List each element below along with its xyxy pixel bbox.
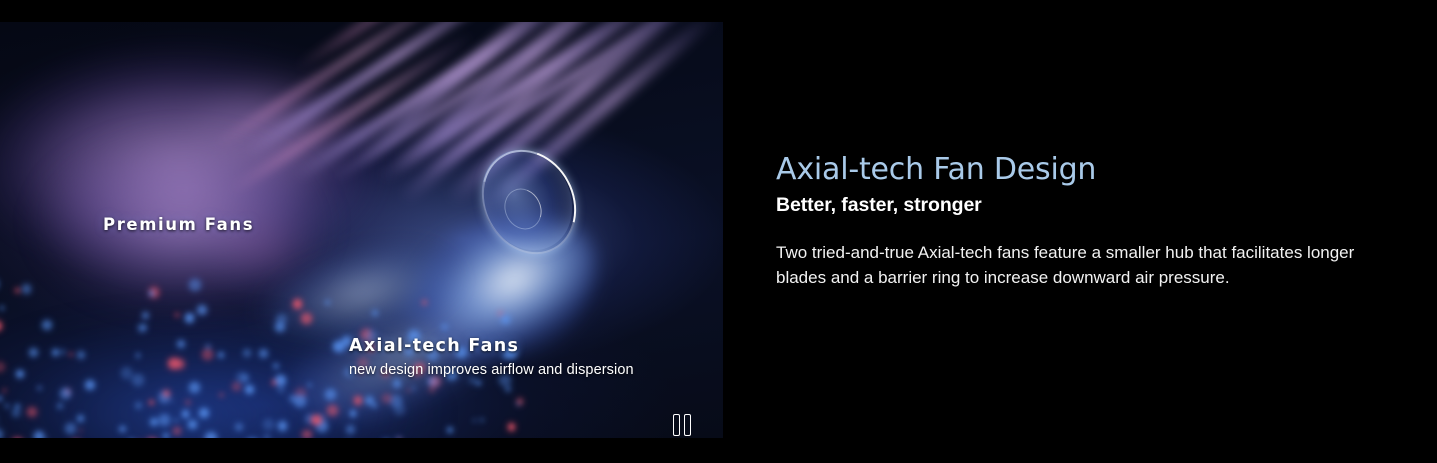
- particle-blue: [0, 306, 4, 310]
- particle-red: [175, 359, 185, 369]
- particle-red: [175, 313, 179, 317]
- particle-blue: [77, 415, 84, 422]
- particle-blue: [325, 300, 330, 305]
- particle-blue: [275, 375, 286, 386]
- particle-blue: [325, 389, 336, 400]
- particle-blue: [22, 284, 32, 294]
- particle-blue: [85, 380, 95, 390]
- particle-red: [185, 400, 191, 406]
- particle-blue: [52, 349, 59, 356]
- particle-red: [498, 311, 503, 316]
- particle-red: [15, 288, 20, 293]
- overlay-caption-axial-fans: new design improves airflow and dispersi…: [349, 362, 634, 378]
- particle-blue: [37, 386, 42, 391]
- particle-red: [202, 349, 214, 361]
- particle-red: [79, 429, 83, 433]
- particle-red: [311, 415, 321, 425]
- particle-blue: [60, 349, 66, 355]
- particle-red: [219, 393, 224, 398]
- particle-blue: [5, 404, 9, 408]
- particle-blue: [16, 370, 24, 378]
- particle-blue: [473, 419, 476, 422]
- feature-subtitle: Better, faster, stronger: [776, 194, 1416, 217]
- overlay-label-axial-fans: Axial-tech Fans: [349, 337, 634, 356]
- particle-red: [27, 407, 37, 417]
- particle-blue: [243, 349, 252, 358]
- particle-blue: [273, 363, 279, 369]
- particle-red: [429, 386, 436, 393]
- particle-blue: [395, 436, 402, 438]
- particle-blue: [60, 388, 72, 400]
- particle-blue: [185, 313, 195, 323]
- particle-blue: [142, 325, 147, 330]
- particle-blue: [57, 403, 63, 409]
- particle-blue: [218, 352, 224, 358]
- media-stage[interactable]: Premium Fans Axial-tech Fans new design …: [0, 22, 723, 438]
- particle-blue: [188, 420, 197, 429]
- overlay-label-axial-block: Axial-tech Fans new design improves airf…: [349, 337, 634, 378]
- particle-blue: [77, 351, 85, 359]
- particle-blue: [264, 434, 270, 438]
- feature-description: Two tried-and-true Axial-tech fans featu…: [776, 240, 1401, 290]
- particle-red: [149, 400, 154, 405]
- particle-blue: [480, 418, 484, 422]
- particle-blue: [159, 414, 171, 426]
- particle-blue: [142, 312, 149, 319]
- particle-blue: [372, 310, 378, 316]
- particle-blue: [393, 380, 401, 388]
- particle-blue: [136, 353, 141, 358]
- particle-blue: [259, 349, 268, 358]
- particle-blue: [121, 367, 133, 379]
- pause-bar-left: [673, 414, 680, 436]
- particle-blue: [197, 305, 207, 315]
- particle-red: [354, 396, 363, 405]
- particle-blue: [276, 314, 287, 325]
- particle-blue: [277, 386, 284, 393]
- particle-blue: [0, 396, 2, 401]
- particle-blue: [65, 423, 76, 434]
- particle-blue: [12, 409, 20, 417]
- pause-bar-right: [684, 414, 691, 436]
- particle-red: [327, 405, 338, 416]
- particle-blue: [505, 386, 511, 392]
- particle-blue: [44, 437, 48, 439]
- particle-blue: [199, 408, 209, 418]
- particle-red: [272, 380, 277, 385]
- particle-blue: [235, 423, 243, 431]
- particle-blue: [441, 324, 448, 331]
- particle-blue: [42, 320, 52, 330]
- particle-blue: [177, 340, 185, 348]
- particle-red: [293, 299, 302, 308]
- particle-blue: [135, 402, 142, 409]
- particle-blue: [469, 377, 476, 384]
- particle-blue: [119, 426, 126, 433]
- particle-blue: [263, 419, 274, 430]
- particle-blue: [346, 425, 355, 434]
- feature-panel: Premium Fans Axial-tech Fans new design …: [0, 0, 1437, 463]
- particle-blue: [394, 404, 405, 415]
- particle-blue: [294, 395, 306, 407]
- particle-blue: [0, 429, 3, 439]
- particle-blue: [205, 432, 217, 438]
- particle-red: [232, 382, 241, 391]
- particle-blue: [34, 431, 45, 438]
- particle-blue: [236, 372, 247, 383]
- particle-red: [3, 389, 6, 392]
- particle-red: [422, 300, 427, 305]
- particle-blue: [132, 374, 144, 386]
- particle-blue: [29, 348, 38, 357]
- particle-blue: [182, 410, 189, 417]
- particle-red: [302, 430, 311, 438]
- particle-blue: [372, 403, 378, 409]
- particle-red: [173, 427, 180, 434]
- particle-blue: [447, 427, 453, 433]
- overlay-label-premium-fans: Premium Fans: [103, 215, 254, 234]
- feature-copy-panel: Axial-tech Fan Design Better, faster, st…: [776, 152, 1416, 290]
- particle-red: [0, 321, 2, 331]
- particle-blue: [189, 279, 201, 291]
- particle-blue: [278, 421, 288, 431]
- particle-blue: [501, 315, 510, 324]
- particle-blue: [163, 433, 168, 438]
- particle-red: [517, 398, 524, 405]
- particle-blue: [411, 386, 417, 392]
- particle-blue: [350, 410, 357, 417]
- particle-red: [301, 313, 312, 324]
- particle-red: [382, 394, 391, 403]
- feature-title: Axial-tech Fan Design: [776, 152, 1416, 187]
- particle-blue: [189, 382, 201, 394]
- particle-red: [69, 353, 72, 356]
- particle-blue: [171, 400, 175, 404]
- particle-red: [407, 389, 410, 392]
- particle-blue: [308, 383, 312, 387]
- particle-blue: [476, 381, 481, 386]
- particle-blue: [174, 419, 177, 422]
- pause-icon[interactable]: [668, 411, 696, 438]
- particle-blue: [150, 418, 158, 426]
- particle-blue: [245, 385, 254, 394]
- particle-red: [0, 362, 5, 372]
- particle-red: [508, 423, 516, 431]
